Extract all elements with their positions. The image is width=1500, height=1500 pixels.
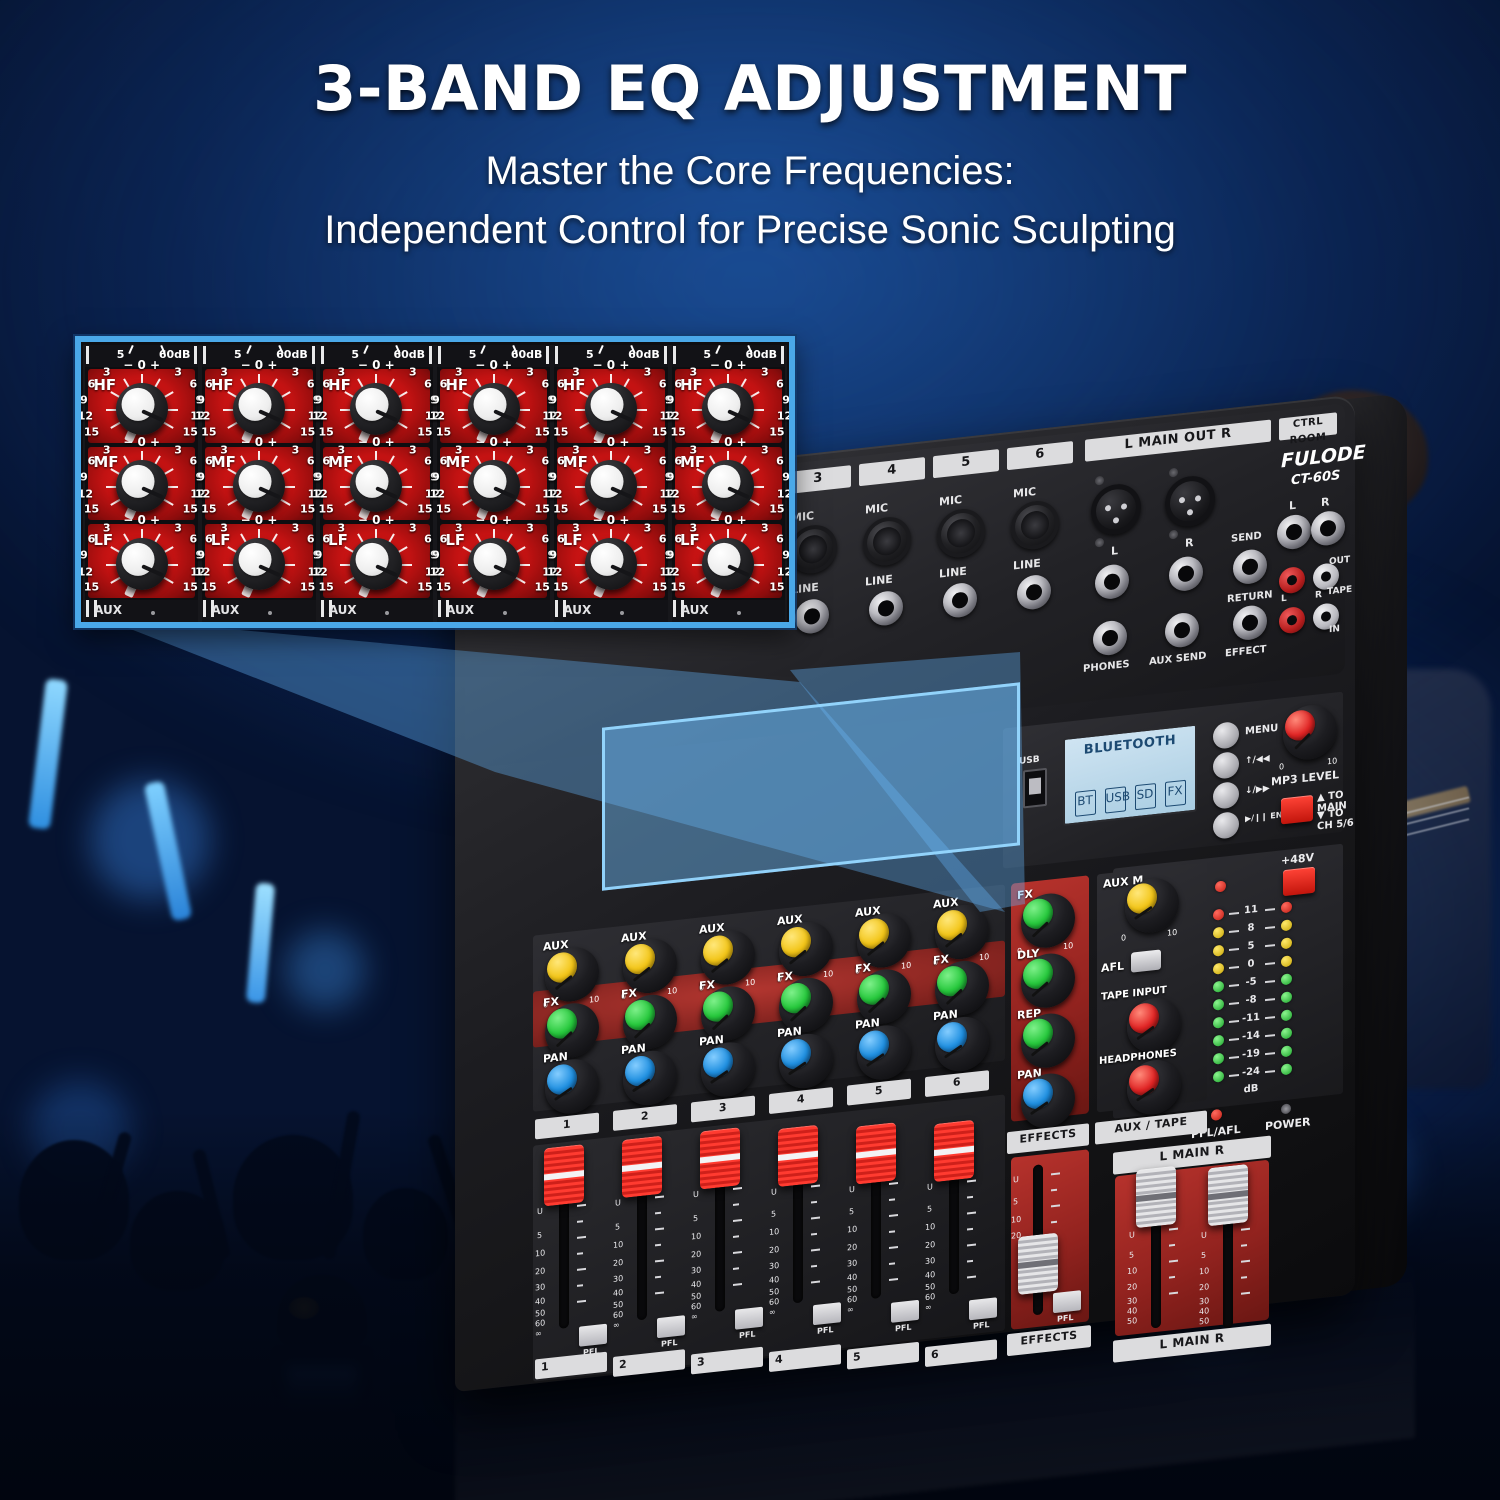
fader-scale-label: 20 (613, 1258, 623, 1268)
eq-scale-3-left: 3 (690, 521, 698, 534)
eq-scale-15-right: 15 (535, 503, 550, 516)
eq-scale-6-left: 6 (557, 533, 565, 546)
fader-scale-label: U (537, 1207, 543, 1217)
eq-scale-9-right: 9 (782, 471, 790, 484)
eq-band-mf[interactable]: MF 15 12 9 6 3 − 0 + 3 6 9 12 15 (205, 447, 312, 521)
aux-row: AUX (320, 600, 433, 622)
eq-scale-12-left: 12 (78, 565, 93, 578)
eq-scale-9-left: 9 (549, 393, 557, 406)
eq-scale-15-right: 15 (769, 580, 784, 593)
eq-scale-3-right: 3 (526, 443, 534, 456)
fader-scale-label: 5 (927, 1204, 932, 1214)
fader-scale-label: 40 (1127, 1306, 1137, 1316)
fader-scale-label: ∞ (613, 1320, 620, 1330)
fader-scale-label: 50 (925, 1282, 935, 1292)
eq-scale-9-left: 9 (80, 471, 88, 484)
eq-scale-center: − 0 + (241, 358, 278, 372)
sd-card-icon: SD (1135, 783, 1156, 810)
lcd-icon-row: BT USB SD FX (1070, 779, 1190, 817)
eq-scale-15-left: 15 (201, 503, 216, 516)
eq-scale-3-left: 3 (455, 521, 463, 534)
fader-scale-label: U (927, 1182, 933, 1192)
eq-scale-9-left: 9 (197, 471, 205, 484)
eq-scale-15-left: 15 (436, 425, 451, 438)
eq-scale-3-right: 3 (761, 521, 769, 534)
eq-scale-9-left: 9 (667, 471, 675, 484)
eq-scale-12-left: 12 (430, 410, 445, 423)
eq-scale-6-right: 6 (307, 455, 315, 468)
eq-scale-6-right: 6 (541, 455, 549, 468)
fader-scale-label: 20 (535, 1266, 545, 1276)
eq-scale-6-left: 6 (440, 377, 448, 390)
effects-fader-label: EFFECTS (1007, 1325, 1091, 1356)
eq-scale-12-left: 12 (78, 410, 93, 423)
eq-knob-lf[interactable]: 15 12 9 6 3 − 0 + 3 6 9 12 15 (573, 526, 649, 602)
eq-scale-12-left: 12 (312, 488, 327, 501)
eq-band-lf[interactable]: LF 15 12 9 6 3 − 0 + 3 6 9 12 15 (205, 524, 312, 598)
eq-strip: 5 60dB HF 15 12 9 6 3 − 0 + 3 6 9 12 15 (552, 345, 669, 622)
eq-scale-9-left: 9 (667, 549, 675, 562)
vu-scale-label: 0 (1241, 958, 1261, 971)
bluetooth-icon: BT (1075, 790, 1096, 817)
eq-scale-15-right: 15 (652, 580, 667, 593)
fader-scale-label: 20 (925, 1240, 935, 1250)
fader-cap[interactable] (856, 1122, 896, 1184)
headphones-knob[interactable] (1127, 1057, 1181, 1117)
eq-scale-center: − 0 + (358, 358, 395, 372)
vu-scale-label: 5 (1241, 940, 1261, 953)
eq-scale-15-left: 15 (670, 425, 685, 438)
eq-scale-6-right: 6 (659, 533, 667, 546)
mp3-min-label: 0 (1279, 762, 1284, 772)
fader-scale-label: U (1129, 1230, 1135, 1240)
aux-m-max: 10 (1167, 928, 1177, 938)
eq-scale-center: − 0 + (710, 358, 747, 372)
fader-cap[interactable] (1018, 1233, 1058, 1295)
tape-in-label: IN (1329, 624, 1340, 635)
fader-scale-label: 30 (1127, 1296, 1137, 1306)
eq-scale-15-right: 15 (417, 425, 432, 438)
fader-scale-label: 5 (849, 1207, 854, 1217)
eq-scale-3-right: 3 (174, 366, 182, 379)
fader-scale-label: 40 (1199, 1306, 1209, 1316)
usb-icon: USB (1105, 786, 1126, 813)
eq-scale-3-left: 3 (572, 443, 580, 456)
fader-scale-label: 60 (769, 1297, 779, 1307)
eq-scale-center: − 0 + (710, 513, 747, 527)
fader-scale-label: U (1201, 1230, 1207, 1240)
eq-scale-9-left: 9 (80, 393, 88, 406)
eq-scale-15-right: 15 (652, 425, 667, 438)
eq-scale-15-right: 15 (769, 425, 784, 438)
fader-scale-label: 40 (847, 1272, 857, 1282)
eq-scale-6-right: 6 (776, 533, 784, 546)
eq-scale-9-left: 9 (197, 393, 205, 406)
page-title: 3-BAND EQ ADJUSTMENT (0, 56, 1500, 122)
eq-scale-15-left: 15 (319, 503, 334, 516)
eq-scale-12-left: 12 (547, 410, 562, 423)
eq-band-mf[interactable]: MF 15 12 9 6 3 − 0 + 3 6 9 12 15 (675, 447, 782, 521)
eq-scale-3-left: 3 (338, 366, 346, 379)
pfl-button-4[interactable] (813, 1302, 841, 1325)
pfl-label-4: PFL (817, 1325, 833, 1336)
eq-strip: 5 60dB HF 15 12 9 6 3 − 0 + 3 6 9 12 15 (318, 345, 435, 622)
power-led (1281, 1103, 1291, 1114)
eq-scale-15-right: 15 (300, 503, 315, 516)
eq-scale-15-right: 15 (535, 425, 550, 438)
pan-knob-ch5[interactable] (857, 1023, 911, 1083)
eq-scale-6-right: 6 (659, 455, 667, 468)
fader-scale-label: ∞ (691, 1312, 698, 1322)
eq-band-lf[interactable]: LF 15 12 9 6 3 − 0 + 3 6 9 12 15 (557, 524, 664, 598)
eq-scale-12-left: 12 (430, 488, 445, 501)
fader-scale-label: 10 (1199, 1266, 1209, 1276)
gain-max-label: 60dB (745, 348, 777, 361)
aux-label: AUX (94, 603, 122, 617)
eq-scale-3-right: 3 (409, 443, 417, 456)
channel-label-top-5: 5 (847, 1079, 911, 1106)
eq-scale-3-left: 3 (338, 443, 346, 456)
aux-row: AUX (202, 600, 315, 622)
eq-scale-center: − 0 + (710, 435, 747, 449)
effects-dly-knob[interactable] (1021, 951, 1075, 1011)
mic-label-ch4: MIC (865, 501, 888, 517)
fader-scale-label: 5 (771, 1209, 776, 1219)
vu-scale-label: 11 (1241, 904, 1261, 917)
fader-scale-label: ∞ (769, 1307, 776, 1317)
subtitle-line-2: Independent Control for Precise Sonic Sc… (0, 203, 1500, 258)
afl-switch[interactable] (1131, 949, 1161, 972)
eq-scale-15-left: 15 (319, 580, 334, 593)
fader-cap[interactable] (622, 1136, 662, 1198)
eq-scale-center: − 0 + (241, 435, 278, 449)
eq-scale-15-left: 15 (319, 425, 334, 438)
eq-scale-15-right: 15 (183, 580, 198, 593)
eq-scale-15-right: 15 (535, 580, 550, 593)
eq-scale-12-left: 12 (195, 565, 210, 578)
pfl-label-3: PFL (739, 1330, 755, 1341)
eq-scale-center: − 0 + (475, 358, 512, 372)
mic-label-ch5: MIC (939, 493, 962, 509)
fader-scale-label: 5 (1129, 1250, 1134, 1260)
eq-band-hf[interactable]: HF 15 12 9 6 3 − 0 + 3 6 9 12 15 (205, 369, 312, 443)
fader-scale-label: 40 (535, 1296, 545, 1306)
pan-knob-ch6[interactable] (935, 1014, 989, 1074)
mic-label-ch6: MIC (1013, 485, 1036, 501)
fader-cap[interactable] (1208, 1164, 1248, 1226)
fx-icon: FX (1165, 780, 1186, 807)
fader-scale-label: U (693, 1190, 699, 1200)
fader-scale-label: 50 (1127, 1316, 1137, 1326)
headline-block: 3-BAND EQ ADJUSTMENT Master the Core Fre… (0, 56, 1500, 258)
eq-scale-15-right: 15 (417, 580, 432, 593)
eq-band-mf[interactable]: MF 15 12 9 6 3 − 0 + 3 6 9 12 15 (323, 447, 430, 521)
glow-stick (144, 780, 193, 921)
fader-scale-label: 60 (847, 1294, 857, 1304)
channel-label-top-1: 1 (535, 1113, 599, 1140)
fader-scale-label: 10 (535, 1248, 545, 1258)
eq-band-lf[interactable]: LF 15 12 9 6 3 − 0 + 3 6 9 12 15 (88, 524, 195, 598)
eq-band-lf[interactable]: LF 15 12 9 6 3 − 0 + 3 6 9 12 15 (675, 524, 782, 598)
eq-scale-9-left: 9 (80, 549, 88, 562)
eq-scale-3-left: 3 (103, 366, 111, 379)
fader-cap[interactable] (544, 1144, 584, 1206)
fader-scale-label: ∞ (925, 1302, 932, 1312)
tape-input-knob[interactable] (1127, 995, 1181, 1055)
fader-scale-label: U (1013, 1175, 1019, 1185)
eq-band-hf[interactable]: HF 15 12 9 6 3 − 0 + 3 6 9 12 15 (440, 369, 547, 443)
eq-band-hf[interactable]: HF 15 12 9 6 3 − 0 + 3 6 9 12 15 (557, 369, 664, 443)
eq-scale-15-left: 15 (553, 580, 568, 593)
eq-scale-12-left: 12 (78, 488, 93, 501)
pfl-button-6[interactable] (969, 1297, 997, 1320)
pfl-label-6: PFL (973, 1320, 989, 1331)
eq-scale-12-left: 12 (664, 565, 679, 578)
eq-scale-center: − 0 + (358, 513, 395, 527)
fader-scale-label: 30 (925, 1256, 935, 1266)
fader-cap[interactable] (934, 1120, 974, 1182)
fader-scale-label: 30 (847, 1258, 857, 1268)
fader-scale-label: 20 (1199, 1282, 1209, 1292)
pan-knob-ch3[interactable] (701, 1040, 755, 1100)
fader-scale-label: ∞ (535, 1329, 542, 1339)
eq-strip: 5 60dB HF 15 12 9 6 3 − 0 + 3 6 9 12 15 (83, 345, 200, 622)
fader-cap[interactable] (700, 1127, 740, 1189)
fader-scale-label: 50 (691, 1291, 701, 1301)
eq-scale-15-right: 15 (183, 503, 198, 516)
eq-band-mf[interactable]: MF 15 12 9 6 3 − 0 + 3 6 9 12 15 (88, 447, 195, 521)
gain-max-label: 60dB (628, 348, 660, 361)
eq-scale-6-left: 6 (205, 455, 213, 468)
aux-label: AUX (563, 603, 591, 617)
eq-scale-center: − 0 + (123, 358, 160, 372)
fader-scale-label: 20 (1127, 1282, 1137, 1292)
eq-scale-12-left: 12 (312, 565, 327, 578)
fader-cap[interactable] (778, 1125, 818, 1187)
aux-label: AUX (446, 603, 474, 617)
glow-stick (246, 882, 275, 1003)
fader-scale-label: U (771, 1187, 777, 1197)
eq-knob-lf[interactable]: 15 12 9 6 3 − 0 + 3 6 9 12 15 (456, 526, 532, 602)
eq-zoom-panel: 5 60dB HF 15 12 9 6 3 − 0 + 3 6 9 12 15 (75, 336, 795, 628)
eq-scale-15-left: 15 (670, 503, 685, 516)
eq-scale-6-right: 6 (424, 533, 432, 546)
fader-scale-label: 10 (769, 1227, 779, 1237)
fader-scale-label: 20 (847, 1242, 857, 1252)
eq-scale-6-left: 6 (557, 455, 565, 468)
eq-scale-6-right: 6 (776, 455, 784, 468)
fader-scale-label: 10 (847, 1224, 857, 1234)
fader-scale-label: 5 (693, 1214, 698, 1224)
eq-scale-6-right: 6 (307, 533, 315, 546)
eq-scale-3-left: 3 (338, 521, 346, 534)
eq-scale-15-left: 15 (436, 503, 451, 516)
eq-scale-6-right: 6 (190, 533, 198, 546)
eq-knob-lf[interactable]: 15 12 9 6 3 − 0 + 3 6 9 12 15 (690, 526, 766, 602)
eq-band-mf[interactable]: MF 15 12 9 6 3 − 0 + 3 6 9 12 15 (440, 447, 547, 521)
eq-scale-6-left: 6 (322, 533, 330, 546)
eq-scale-6-right: 6 (307, 377, 315, 390)
pfl-button-3[interactable] (735, 1307, 763, 1330)
fader-cap[interactable] (1136, 1166, 1176, 1228)
eq-band-hf[interactable]: HF 15 12 9 6 3 − 0 + 3 6 9 12 15 (88, 369, 195, 443)
channel-label-bottom-6: 6 (925, 1339, 997, 1367)
eq-scale-9-left: 9 (432, 471, 440, 484)
eq-scale-9-left: 9 (667, 393, 675, 406)
eq-scale-3-left: 3 (455, 443, 463, 456)
eq-knob-lf[interactable]: 15 12 9 6 3 − 0 + 3 6 9 12 15 (338, 526, 414, 602)
pan-knob-ch2[interactable] (623, 1048, 677, 1108)
fader-scale-label: 40 (613, 1288, 623, 1298)
gain-max-label: 60dB (159, 348, 191, 361)
eq-scale-center: − 0 + (475, 435, 512, 449)
tape-right-label: R (1315, 590, 1322, 601)
fader-scale-label: 10 (613, 1240, 623, 1250)
eq-band-lf[interactable]: LF 15 12 9 6 3 − 0 + 3 6 9 12 15 (323, 524, 430, 598)
lcd-title: BLUETOOTH (1065, 731, 1195, 760)
fader-scale-label: 60 (691, 1301, 701, 1311)
pfl-button-2[interactable] (657, 1315, 685, 1338)
effects-pfl-label: PFL (1057, 1313, 1073, 1324)
eq-scale-6-right: 6 (541, 533, 549, 546)
fader-scale-label: 30 (535, 1282, 545, 1292)
fader-scale-label: 40 (925, 1270, 935, 1280)
aux-row: AUX (672, 600, 785, 622)
eq-scale-3-right: 3 (409, 366, 417, 379)
routing-to-ch56-label: ▼ TO CH 5/6 (1317, 806, 1355, 832)
aux-row: AUX (85, 600, 198, 622)
aux-label: AUX (681, 603, 709, 617)
power-label: POWER (1265, 1115, 1311, 1133)
afl-label: AFL (1101, 959, 1124, 975)
eq-knob-lf[interactable]: 15 12 9 6 3 − 0 + 3 6 9 12 15 (221, 526, 297, 602)
eq-scale-9-left: 9 (432, 393, 440, 406)
eq-scale-15-left: 15 (436, 580, 451, 593)
routing-switch[interactable] (1281, 795, 1313, 824)
eq-scale-3-right: 3 (644, 443, 652, 456)
eq-scale-15-right: 15 (769, 503, 784, 516)
eq-scale-15-left: 15 (84, 503, 99, 516)
eq-band-lf[interactable]: LF 15 12 9 6 3 − 0 + 3 6 9 12 15 (440, 524, 547, 598)
eq-scale-center: − 0 + (241, 513, 278, 527)
eq-scale-15-left: 15 (201, 580, 216, 593)
tape-out-label: OUT (1329, 555, 1350, 567)
aux-m-knob[interactable] (1125, 875, 1179, 935)
effects-rep-knob[interactable] (1021, 1011, 1075, 1071)
eq-scale-6-left: 6 (674, 377, 682, 390)
eq-scale-3-right: 3 (761, 366, 769, 379)
aux-label: AUX (329, 603, 357, 617)
eq-scale-3-left: 3 (690, 366, 698, 379)
effects-fx-max: 10 (1063, 941, 1073, 951)
eq-scale-center: − 0 + (593, 358, 630, 372)
eq-scale-9-right: 9 (782, 393, 790, 406)
pfl-button-1[interactable] (579, 1324, 607, 1347)
eq-scale-3-right: 3 (644, 521, 652, 534)
pfl-label-2: PFL (661, 1338, 677, 1349)
fader-scale-label: 30 (691, 1265, 701, 1275)
fader-scale-label: 60 (613, 1310, 623, 1320)
effects-pan-knob[interactable] (1021, 1071, 1075, 1131)
pfl-afl-led (1211, 1109, 1222, 1121)
eq-scale-9-right: 9 (782, 549, 790, 562)
eq-scale-center: − 0 + (358, 435, 395, 449)
eq-scale-12-left: 12 (430, 565, 445, 578)
eq-scale-3-right: 3 (292, 443, 300, 456)
eq-scale-3-right: 3 (526, 366, 534, 379)
eq-strip: 5 60dB HF 15 12 9 6 3 − 0 + 3 6 9 12 15 (670, 345, 787, 622)
eq-scale-6-left: 6 (674, 455, 682, 468)
eq-scale-3-right: 3 (174, 521, 182, 534)
fader-scale-label: 50 (1199, 1316, 1209, 1326)
effects-pfl-button[interactable] (1053, 1290, 1081, 1313)
fader-scale-label: 5 (1013, 1197, 1018, 1207)
fader-scale-label: 5 (1201, 1251, 1206, 1261)
eq-scale-6-left: 6 (674, 533, 682, 546)
eq-scale-15-left: 15 (553, 425, 568, 438)
fader-scale-label: 30 (613, 1274, 623, 1284)
fader-scale-label: 60 (925, 1292, 935, 1302)
eq-strip: 5 60dB HF 15 12 9 6 3 − 0 + 3 6 9 12 15 (435, 345, 552, 622)
fader-scale-label: 50 (769, 1287, 779, 1297)
eq-band-hf[interactable]: HF 15 12 9 6 3 − 0 + 3 6 9 12 15 (675, 369, 782, 443)
eq-scale-15-left: 15 (84, 425, 99, 438)
phantom-power-switch[interactable] (1283, 867, 1315, 896)
gain-max-label: 60dB (511, 348, 543, 361)
pan-knob-ch4[interactable] (779, 1031, 833, 1091)
eq-scale-6-right: 6 (541, 377, 549, 390)
main-out-right-label: R (1185, 536, 1193, 550)
eq-scale-9-left: 9 (315, 471, 323, 484)
aux-row: AUX (437, 600, 550, 622)
ctrl-room-left-label: L (1289, 499, 1296, 513)
eq-scale-15-left: 15 (84, 580, 99, 593)
eq-scale-3-right: 3 (644, 366, 652, 379)
eq-band-hf[interactable]: HF 15 12 9 6 3 − 0 + 3 6 9 12 15 (323, 369, 430, 443)
tape-label: TAPE (1327, 585, 1352, 598)
eq-scale-3-right: 3 (526, 521, 534, 534)
eq-scale-15-right: 15 (300, 580, 315, 593)
eq-scale-12-left: 12 (312, 410, 327, 423)
fader-scale-label: 5 (615, 1222, 620, 1232)
fader-scale-label: 10 (925, 1222, 935, 1232)
fader-scale-label: 30 (769, 1261, 779, 1271)
eq-scale-3-right: 3 (409, 521, 417, 534)
pan-knob-ch1[interactable] (545, 1057, 599, 1117)
eq-scale-12-right: 12 (777, 410, 792, 423)
tape-left-label: L (1281, 594, 1287, 605)
main-out-left-label: L (1111, 544, 1118, 558)
subtitle-line-1: Master the Core Frequencies: (0, 144, 1500, 199)
eq-band-mf[interactable]: MF 15 12 9 6 3 − 0 + 3 6 9 12 15 (557, 447, 664, 521)
vu-scale-label: 8 (1241, 922, 1261, 935)
eq-scale-3-left: 3 (690, 443, 698, 456)
eq-scale-15-left: 15 (553, 503, 568, 516)
fader-scale-label: 20 (691, 1249, 701, 1259)
pfl-button-5[interactable] (891, 1300, 919, 1323)
eq-scale-3-right: 3 (292, 521, 300, 534)
eq-scale-3-left: 3 (220, 366, 228, 379)
mp3-max-label: 10 (1327, 756, 1337, 766)
eq-knob-lf[interactable]: 15 12 9 6 3 − 0 + 3 6 9 12 15 (104, 526, 180, 602)
mp3-level-knob[interactable] (1283, 702, 1337, 762)
fader-scale-label: ∞ (847, 1305, 854, 1315)
eq-strip: 5 60dB HF 15 12 9 6 3 − 0 + 3 6 9 12 15 (200, 345, 317, 622)
eq-scale-6-left: 6 (440, 533, 448, 546)
eq-scale-center: − 0 + (593, 513, 630, 527)
eq-scale-center: − 0 + (475, 513, 512, 527)
usb-port[interactable] (1023, 768, 1047, 809)
